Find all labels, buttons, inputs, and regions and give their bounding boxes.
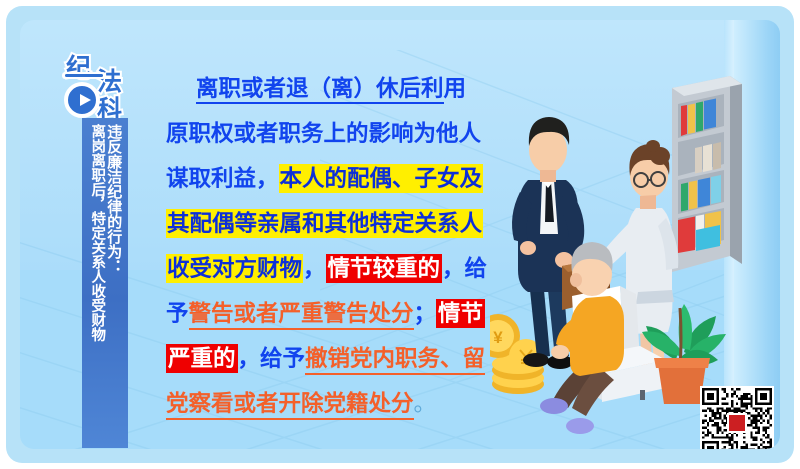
text-segment: 警告或者严重警告处分 [189, 301, 414, 330]
body-text-line: 党察看或者开除党籍处分。 [166, 381, 496, 426]
body-text-line: 收受对方财物，情节较重的，给 [166, 246, 496, 291]
qr-seal-icon [727, 413, 747, 433]
sidebar-column-primary: 违反廉洁纪律的行为： [105, 124, 121, 448]
vertical-title-bar: 违反廉洁纪律的行为： 离岗离职后，特定关系人收受财物 [82, 118, 128, 448]
text-segment: 谋取利益， [166, 166, 279, 191]
text-segment: ， [303, 256, 326, 281]
text-segment: 党察看或者开除党籍处分 [166, 391, 414, 420]
body-text-line: 严重的，给予撤销党内职务、留 [166, 336, 496, 381]
text-segment: 。 [414, 391, 437, 416]
text-segment: 情节较重的 [326, 254, 443, 283]
text-segment: 离职或者退（离）休后利 [196, 76, 444, 104]
text-segment: 其配偶等亲属和其他特定关系人 [166, 209, 483, 238]
text-segment: 收受对方财物 [166, 254, 303, 283]
office-illustration: ¥ [490, 60, 780, 440]
body-text-line: 谋取利益，本人的配偶、子女及 [166, 156, 496, 201]
text-segment: 情节 [436, 299, 485, 328]
poster-root: ¥ [0, 0, 800, 469]
logo-underbar-inner [65, 74, 103, 77]
bookshelf-graphic [672, 76, 742, 272]
text-segment: ，给予 [238, 346, 306, 371]
text-segment: 用 [444, 76, 467, 101]
sidebar-column-secondary: 离岗离职后，特定关系人收受财物 [89, 124, 105, 448]
text-segment: ，给 [442, 256, 487, 281]
text-segment: 严重的 [166, 344, 238, 373]
play-circle-icon [64, 82, 100, 118]
text-segment: 撤销党内职务、留 [305, 346, 485, 375]
body-text-line: 原职权或者职务上的影响为他人 [166, 111, 496, 156]
text-segment: 原职权或者职务上的影响为他人 [166, 121, 481, 146]
body-text-line: 离职或者退（离）休后利用 [166, 66, 496, 111]
text-segment: 本人的配偶、子女及 [279, 164, 484, 193]
poster-frame: ¥ [6, 6, 794, 463]
qr-code[interactable] [700, 386, 774, 449]
body-text-block: 离职或者退（离）休后利用原职权或者职务上的影响为他人谋取利益，本人的配偶、子女及… [166, 66, 496, 426]
poster-room: ¥ [20, 20, 780, 449]
body-text-line: 其配偶等亲属和其他特定关系人 [166, 201, 496, 246]
text-segment: ； [414, 301, 437, 326]
text-segment: 予 [166, 301, 189, 326]
body-text-line: 予警告或者严重警告处分；情节 [166, 291, 496, 336]
